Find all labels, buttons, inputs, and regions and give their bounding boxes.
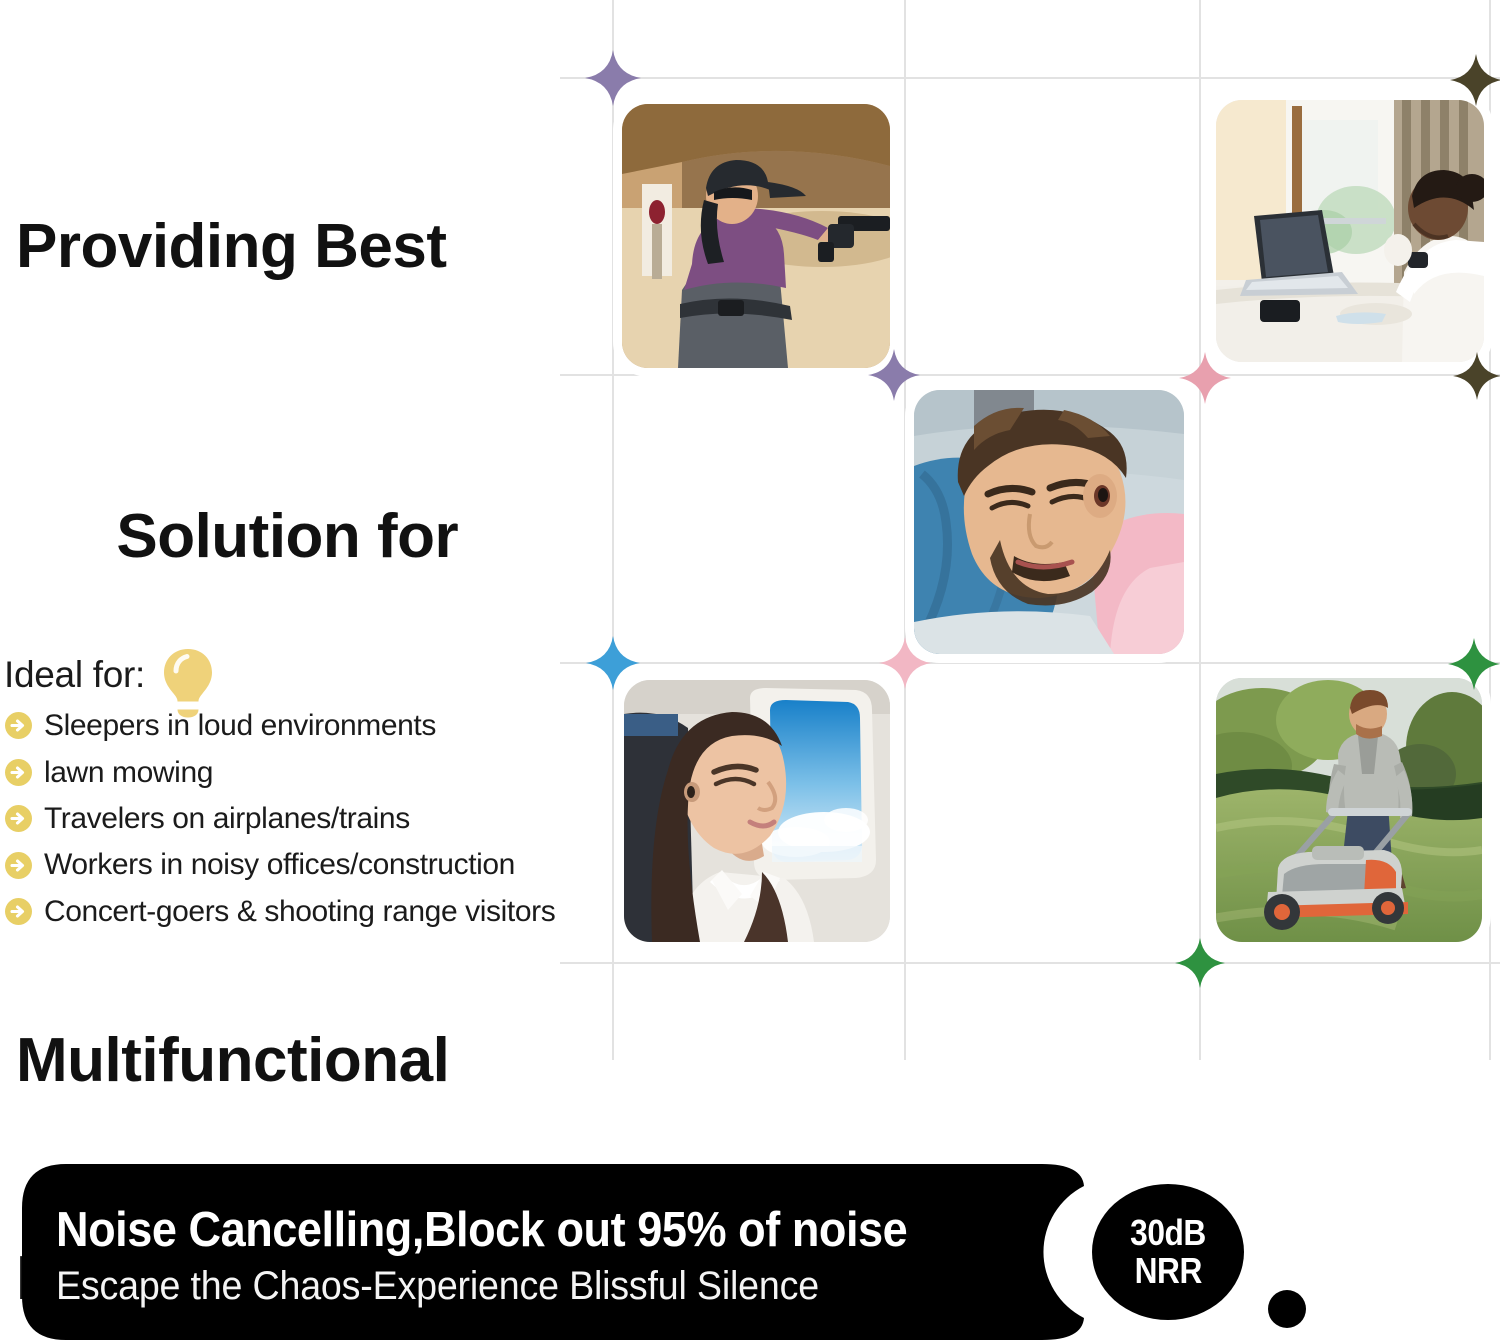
sparkle-purple-top-left (585, 50, 641, 106)
list-item-label: lawn mowing (44, 755, 213, 790)
sparkle-pink-lower-center (879, 637, 931, 689)
sparkle-olive-top-right (1450, 54, 1500, 106)
grid-line-horizontal (560, 77, 1500, 79)
ideal-for-list: Sleepers in loud environments lawn mowin… (4, 708, 624, 929)
grid-line-vertical (1489, 0, 1491, 1060)
decorative-dot (1268, 1290, 1306, 1328)
arrow-right-circle-icon (4, 711, 33, 740)
grid-line-vertical (1199, 0, 1201, 1060)
sparkle-green-lower-right (1448, 638, 1500, 690)
grid-line-vertical (904, 0, 906, 1060)
infographic-page: Providing Best Solution for Multifunctio… (0, 0, 1500, 1344)
list-item-label: Workers in noisy offices/construction (44, 847, 515, 882)
sparkle-green-bottom (1175, 938, 1225, 988)
lawn-mowing-photo (1216, 678, 1482, 942)
ideal-for-section: Ideal for: Sleepers in loud environments (4, 652, 624, 940)
arrow-right-circle-icon (4, 851, 33, 880)
list-item-label: Sleepers in loud environments (44, 708, 436, 743)
list-item: Sleepers in loud environments (4, 708, 624, 743)
list-item: lawn mowing (4, 755, 624, 790)
grid-line-horizontal (560, 662, 1500, 664)
arrow-right-circle-icon (4, 804, 33, 833)
banner-text-block: Noise Cancelling,Block out 95% of noise … (56, 1206, 1046, 1307)
headline-line-2: Solution for (116, 502, 458, 571)
headline-line-3: Multifunctional (16, 1025, 576, 1098)
home-office-photo (1216, 100, 1484, 362)
grid-line-horizontal (560, 374, 1500, 376)
arrow-right-circle-icon (4, 897, 33, 926)
sparkle-olive-mid-right (1453, 352, 1500, 400)
list-item-label: Travelers on airplanes/trains (44, 801, 410, 836)
grid-line-horizontal (560, 962, 1500, 964)
list-item-label: Concert-goers & shooting range visitors (44, 894, 555, 929)
list-item: Travelers on airplanes/trains (4, 801, 624, 836)
list-item: Concert-goers & shooting range visitors (4, 894, 624, 929)
sparkle-pink-mid-center (1179, 352, 1231, 404)
ideal-for-title: Ideal for: (4, 652, 624, 698)
nrr-badge-value: 30dB (1130, 1215, 1206, 1251)
airplane-traveler-photo (624, 680, 890, 942)
headline-line-1: Providing Best (16, 211, 576, 284)
sleeping-man-photo (914, 390, 1184, 654)
banner-subtitle: Escape the Chaos-Experience Blissful Sil… (56, 1265, 987, 1307)
banner-title: Noise Cancelling,Block out 95% of noise (56, 1206, 967, 1256)
arrow-right-circle-icon (4, 758, 33, 787)
sparkle-purple-mid-left (868, 349, 920, 401)
list-item: Workers in noisy offices/construction (4, 847, 624, 882)
sparkle-blue-lower-left (586, 636, 640, 690)
nrr-badge: 30dB NRR (1092, 1184, 1244, 1320)
nrr-badge-label: NRR (1134, 1253, 1201, 1289)
shooting-range-photo (622, 104, 890, 368)
